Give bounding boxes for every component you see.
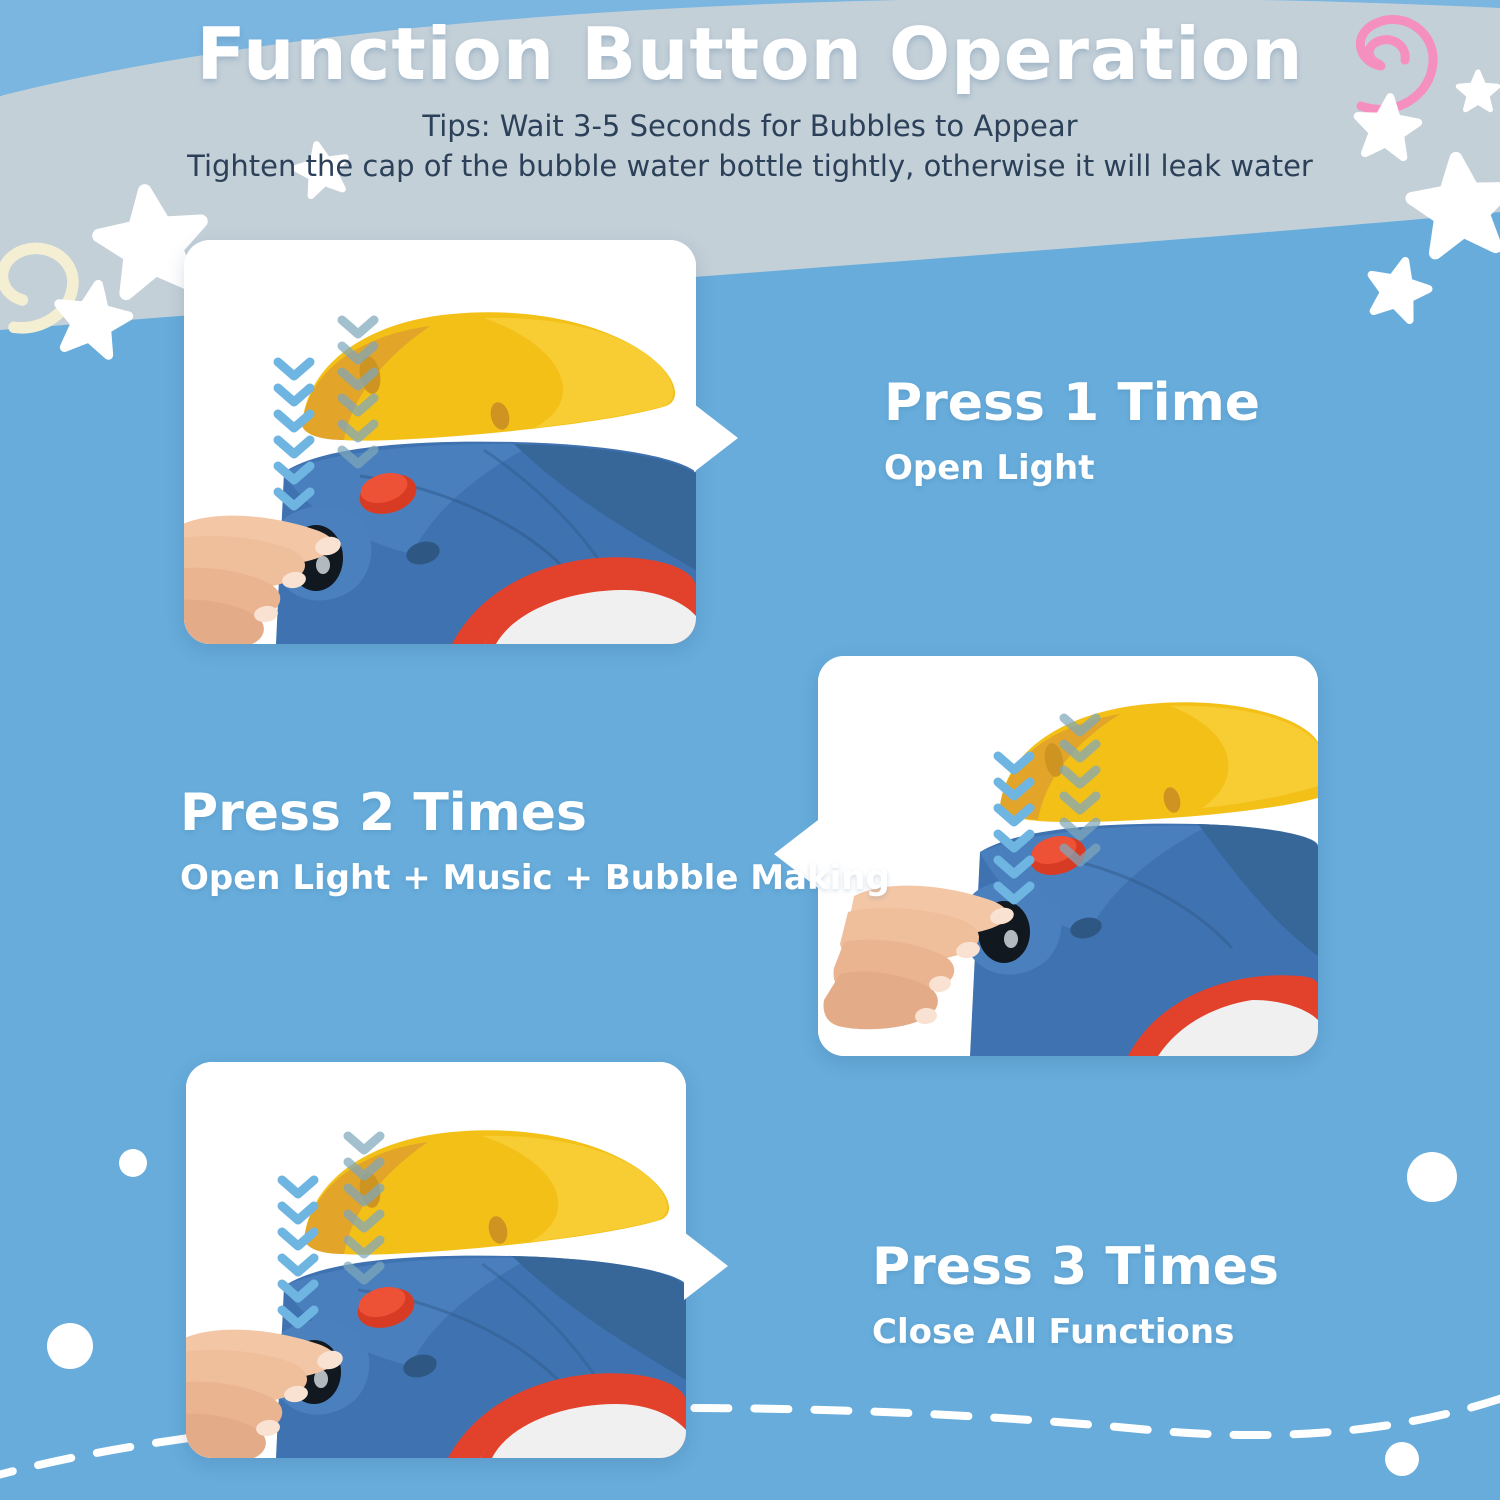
step-1-heading: Press 1 Time <box>884 372 1260 434</box>
step-text-3: Press 3 Times Close All Functions <box>872 1236 1279 1356</box>
step-3-description: Close All Functions <box>872 1308 1279 1356</box>
step-photo-card-2 <box>818 656 1318 1056</box>
finger-pressing-button-photo-3 <box>186 1062 686 1458</box>
dot-icon <box>1407 1152 1457 1202</box>
step-photo-card-1 <box>184 240 696 644</box>
tips-line-1: Tips: Wait 3-5 Seconds for Bubbles to Ap… <box>422 109 1077 143</box>
step-text-2: Press 2 Times Open Light + Music + Bubbl… <box>180 782 890 902</box>
header: Function Button Operation Tips: Wait 3-5… <box>0 0 1500 186</box>
step-2-description: Open Light + Music + Bubble Making <box>180 854 890 902</box>
dot-icon <box>119 1149 147 1177</box>
step-1-description: Open Light <box>884 444 1260 492</box>
finger-pressing-button-photo-1 <box>184 240 696 644</box>
step-2-heading: Press 2 Times <box>180 782 890 844</box>
callout-pointer-3 <box>684 1232 728 1300</box>
tips-text: Tips: Wait 3-5 Seconds for Bubbles to Ap… <box>0 106 1500 186</box>
step-text-1: Press 1 Time Open Light <box>884 372 1260 492</box>
callout-pointer-1 <box>694 404 738 472</box>
infographic-canvas: Function Button Operation Tips: Wait 3-5… <box>0 0 1500 1500</box>
tips-line-2: Tighten the cap of the bubble water bott… <box>0 146 1500 186</box>
step-photo-card-3 <box>186 1062 686 1458</box>
dot-icon <box>1385 1442 1419 1476</box>
step-3-heading: Press 3 Times <box>872 1236 1279 1298</box>
page-title: Function Button Operation <box>0 0 1500 100</box>
dot-icon <box>47 1323 93 1369</box>
finger-pressing-button-photo-2 <box>818 656 1318 1056</box>
